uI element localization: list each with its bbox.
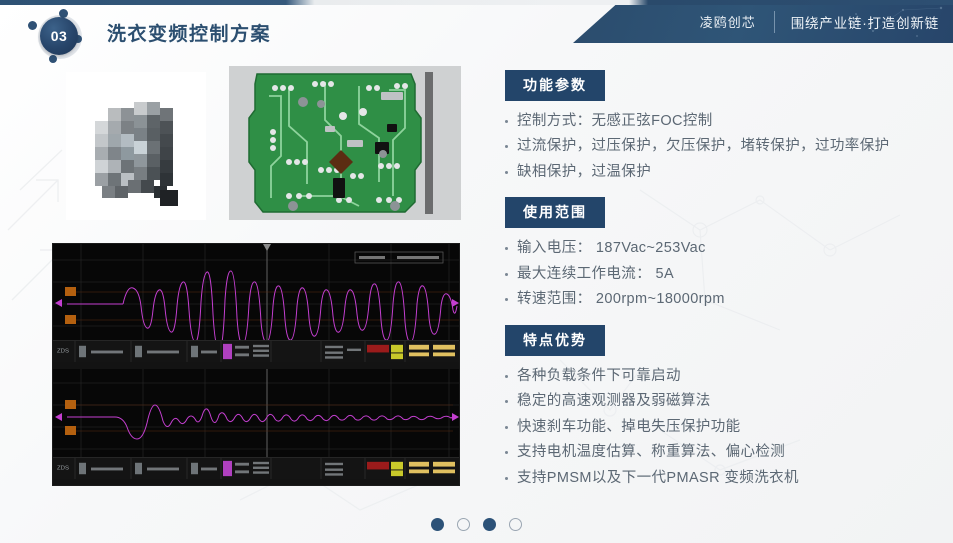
badge-core: 03 — [40, 17, 78, 55]
pagination-dot-3[interactable] — [483, 518, 496, 531]
brand-name: 凌鸥创芯 — [700, 12, 774, 31]
section-badge-advantages: 特点优势 — [505, 325, 605, 356]
bullet-icon — [505, 451, 508, 454]
list-item-label: 稳定的高速观测器及弱磁算法 — [517, 390, 711, 413]
list-item: 缺相保护，过温保护 — [505, 160, 945, 185]
bullet-icon — [505, 375, 508, 378]
list-item: 最大连续工作电流： 5A — [505, 262, 945, 287]
list-item-label: 缺相保护，过温保护 — [517, 161, 651, 184]
bullet-icon — [505, 298, 508, 301]
bullet-icon — [505, 145, 508, 148]
motor-photo — [66, 72, 206, 220]
badge-node-left — [28, 21, 37, 30]
svg-text:ZDS: ZDS — [57, 349, 69, 355]
list-item: 控制方式：无感正弦FOC控制 — [505, 109, 945, 134]
list-item: 支持PMSM以及下一代PMASR 变频洗衣机 — [505, 466, 945, 491]
list-item-label: 最大连续工作电流： 5A — [517, 263, 674, 286]
bullet-icon — [505, 400, 508, 403]
pagination-dot-2[interactable] — [457, 518, 470, 531]
pagination-dot-1[interactable] — [431, 518, 444, 531]
list-item: 各种负载条件下可靠启动 — [505, 364, 945, 389]
section-list-range: 输入电压： 187Vac~253Vac 最大连续工作电流： 5A 转速范围： 2… — [505, 236, 945, 312]
content-column: 功能参数 控制方式：无感正弦FOC控制 过流保护，过压保护，欠压保护，堵转保护，… — [505, 70, 945, 495]
pagination-dot-4[interactable] — [509, 518, 522, 531]
bullet-icon — [505, 120, 508, 123]
pcb-photo — [229, 66, 461, 220]
slide-number-badge: 03 — [26, 9, 86, 65]
list-item-label: 转速范围： 200rpm~18000rpm — [517, 288, 725, 311]
list-item: 稳定的高速观测器及弱磁算法 — [505, 389, 945, 414]
list-item-label: 支持电机温度估算、称重算法、偏心检测 — [517, 441, 785, 464]
bullet-icon — [505, 247, 508, 250]
top-accent-strip — [0, 0, 953, 5]
list-item-label: 快速刹车功能、掉电失压保护功能 — [517, 416, 741, 439]
list-item: 过流保护，过压保护，欠压保护，堵转保护，过功率保护 — [505, 134, 945, 159]
list-item-label: 输入电压： 187Vac~253Vac — [517, 237, 706, 260]
list-item: 快速刹车功能、掉电失压保护功能 — [505, 415, 945, 440]
list-item: 转速范围： 200rpm~18000rpm — [505, 287, 945, 312]
bullet-icon — [505, 477, 508, 480]
list-item-label: 支持PMSM以及下一代PMASR 变频洗衣机 — [517, 467, 799, 490]
oscilloscope-capture: ZDS — [52, 243, 460, 486]
section-badge-range: 使用范围 — [505, 197, 605, 228]
pagination — [0, 518, 953, 531]
page-title: 洗衣变频控制方案 — [107, 19, 271, 46]
scope-infobar-top: ZDS — [53, 340, 460, 362]
slide-number-text: 03 — [51, 28, 68, 44]
section-params: 功能参数 控制方式：无感正弦FOC控制 过流保护，过压保护，欠压保护，堵转保护，… — [505, 70, 945, 185]
bullet-icon — [505, 273, 508, 276]
section-badge-params: 功能参数 — [505, 70, 605, 101]
section-advantages: 特点优势 各种负载条件下可靠启动 稳定的高速观测器及弱磁算法 快速刹车功能、掉电… — [505, 325, 945, 491]
bullet-icon — [505, 426, 508, 429]
section-range: 使用范围 输入电压： 187Vac~253Vac 最大连续工作电流： 5A 转速… — [505, 197, 945, 312]
section-list-params: 控制方式：无感正弦FOC控制 过流保护，过压保护，欠压保护，堵转保护，过功率保护… — [505, 109, 945, 185]
bullet-icon — [505, 171, 508, 174]
badge-node-bottom — [49, 55, 57, 63]
svg-text:ZDS: ZDS — [57, 466, 69, 472]
list-item-label: 过流保护，过压保护，欠压保护，堵转保护，过功率保护 — [517, 135, 890, 158]
list-item: 输入电压： 187Vac~253Vac — [505, 236, 945, 261]
scope-infobar-bottom: ZDS — [53, 457, 460, 479]
list-item: 支持电机温度估算、称重算法、偏心检测 — [505, 440, 945, 465]
brand-slogan: 围绕产业链·打造创新链 — [791, 12, 939, 32]
banner-divider — [774, 11, 775, 33]
list-item-label: 各种负载条件下可靠启动 — [517, 365, 681, 388]
header-banner: 凌鸥创芯 围绕产业链·打造创新链 — [573, 0, 953, 43]
section-list-advantages: 各种负载条件下可靠启动 稳定的高速观测器及弱磁算法 快速刹车功能、掉电失压保护功… — [505, 364, 945, 491]
list-item-label: 控制方式：无感正弦FOC控制 — [517, 110, 713, 133]
